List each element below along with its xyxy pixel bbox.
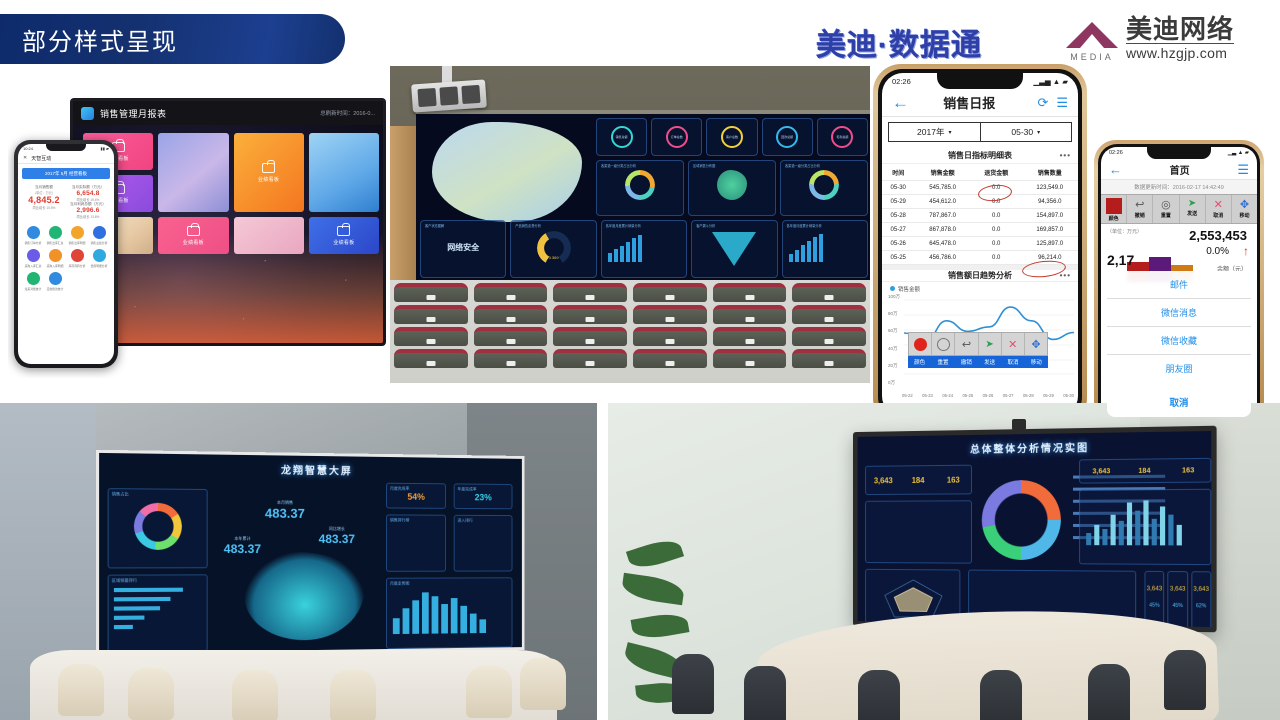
chair xyxy=(232,670,278,720)
kpi-card: 当月实际额（万元） 6,654.8 同比增长 19.4% xyxy=(67,185,109,202)
kpi-value: 3,643 xyxy=(866,476,901,485)
x-tick: 05-22 xyxy=(902,393,913,398)
seat xyxy=(713,327,787,346)
report-icon xyxy=(93,249,106,262)
cell-date: 05-28 xyxy=(882,209,914,223)
send-icon: ➤ xyxy=(1188,198,1196,209)
share-option-email[interactable]: 邮件 xyxy=(1107,271,1251,299)
shortcut-item[interactable]: 采购入库明细 xyxy=(45,249,65,268)
seat-row xyxy=(390,305,870,324)
phone-frame: 02:26 ▁▃ ▲ ▰ ← 首页 ☰ 数据更新时间：2016-02-17 14… xyxy=(1094,140,1264,430)
gauge-value: 54% xyxy=(387,492,445,502)
seat xyxy=(633,327,707,346)
gauge-value: 45% xyxy=(1145,602,1163,608)
metric-value: 483.37 xyxy=(265,506,305,521)
undo-icon: ↩ xyxy=(1135,198,1144,211)
cell-sales: 787,867.0 xyxy=(914,209,970,223)
toolbar-label-move: 移动 xyxy=(1239,212,1249,219)
section-title-banner: 部分样式呈现 xyxy=(0,14,345,64)
card-value: 3,643 xyxy=(1169,586,1187,592)
toolbar-label-send: 发送 xyxy=(1187,210,1197,217)
donut-chart xyxy=(809,170,839,200)
share-action-sheet: 邮件 微信消息 微信收藏 朋友圈 取消 xyxy=(1107,271,1251,417)
shortcut-item[interactable]: 应收账款统计 xyxy=(45,272,65,291)
seat xyxy=(474,349,548,368)
kpi-value: 4,845.2 xyxy=(23,195,65,205)
gauge-card: 月度完成率 54% xyxy=(386,483,446,509)
card-value: 3,643 xyxy=(1145,586,1163,592)
card-value: 3,643 xyxy=(1192,587,1210,593)
widget-title: 各年度月度累计销量分析 xyxy=(606,223,686,228)
tile-image-building[interactable] xyxy=(309,133,379,212)
chair xyxy=(744,666,786,720)
shortcut-item[interactable]: 采购入库汇总 xyxy=(23,249,43,268)
tile-label: 业绩看板 xyxy=(183,239,204,246)
reset-icon[interactable] xyxy=(932,333,955,355)
logo-media-text: MEDIA xyxy=(1064,52,1120,62)
briefcase-icon xyxy=(262,163,275,173)
seat xyxy=(633,349,707,368)
toolbar-label-row: 颜色 重置 撤销 发送 取消 移动 xyxy=(908,356,1048,368)
report-icon xyxy=(71,249,84,262)
chair xyxy=(980,670,1022,720)
column-header[interactable]: 时间 xyxy=(882,164,914,181)
chair xyxy=(330,670,376,720)
tile-dashboard[interactable]: 业绩看板 xyxy=(158,217,228,254)
bar-chart xyxy=(789,232,867,262)
send-icon[interactable]: ➤ xyxy=(979,333,1002,355)
metric-callout: 本年累计 483.37 xyxy=(222,536,263,556)
refresh-icon[interactable]: ⟳ xyxy=(1037,95,1048,111)
chair xyxy=(128,668,174,720)
widget-title: 各渠道一级分类占比分析 xyxy=(785,163,867,168)
cancel-icon[interactable]: ✕ xyxy=(1002,333,1025,355)
tile-label: 业绩看板 xyxy=(258,176,279,183)
undo-button[interactable]: ↩ 撤销 xyxy=(1127,195,1153,223)
table-card-title: 销售日指标明细表 xyxy=(948,150,1012,161)
funnel-chart xyxy=(712,232,756,266)
gauge-card: 年度完成率 23% xyxy=(454,483,513,509)
seat xyxy=(474,327,548,346)
last-updated-label: 数据更新时间：2016-02-17 14:42:49 xyxy=(1101,180,1257,194)
tablet-screen: 销售管理月报表 总刷新时间：2016-0... 业绩看板 业绩看板 业绩看板 xyxy=(73,101,383,343)
ring-label: 回款总额 xyxy=(778,128,796,146)
table-row: 05-25456,786.00.096,214.0 xyxy=(882,251,1078,265)
filter-row: 2017年 ▾ 05-30 ▾ xyxy=(888,122,1072,142)
kpi-ring-card: 客户总数 xyxy=(706,118,757,156)
share-options-group: 邮件 微信消息 微信收藏 朋友圈 xyxy=(1107,271,1251,382)
status-time: 02:26 xyxy=(892,77,911,86)
seat xyxy=(474,305,548,324)
seat xyxy=(474,283,548,302)
cell-qty: 154,897.0 xyxy=(1022,209,1078,223)
kpi-value: 3,643 xyxy=(1080,468,1123,476)
chair xyxy=(520,658,566,710)
report-icon xyxy=(27,226,40,239)
app-logo-icon xyxy=(81,107,94,120)
reset-icon: ◎ xyxy=(1161,198,1171,211)
status-time: 10:24 xyxy=(23,146,33,151)
cell-sales: 456,786.0 xyxy=(914,251,970,265)
shortcut-label: 库存周转分析 xyxy=(69,264,86,268)
auditorium-seating xyxy=(390,280,870,383)
color-swatch-button[interactable]: 颜色 xyxy=(1101,195,1127,223)
report-icon xyxy=(71,226,84,239)
cell-sales: 454,612.0 xyxy=(914,195,970,209)
ranking-widget: 区域销量排行 xyxy=(108,574,208,653)
kpi-ring-card: 订单总数 xyxy=(651,118,702,156)
tablet-app-header: 销售管理月报表 总刷新时间：2016-0... xyxy=(73,101,383,125)
seat xyxy=(553,349,627,368)
logo-company-name: 美迪网络 xyxy=(1126,16,1234,43)
toolbar-label-send[interactable]: 发送 xyxy=(978,356,1001,368)
metric-callout: 本月销售 483.37 xyxy=(265,500,305,521)
chair xyxy=(466,666,512,718)
kpi-unit: （单位：万元） xyxy=(1107,228,1142,235)
toolbar-label-reset: 重置 xyxy=(1161,212,1171,219)
seat xyxy=(713,349,787,368)
seat-row xyxy=(390,349,870,368)
donut-chart xyxy=(134,503,182,550)
cell-qty: 169,857.0 xyxy=(1022,223,1078,237)
seat xyxy=(792,349,866,368)
status-icons: ▮▮ ▰ xyxy=(100,146,109,151)
donut-chart xyxy=(625,170,655,200)
seat-row xyxy=(390,327,870,346)
china-map-visual xyxy=(432,122,582,222)
x-tick: 05-26 xyxy=(983,393,994,398)
page-title: 部分样式呈现 xyxy=(22,22,178,57)
funnel-widget: 客户漏斗分析 xyxy=(691,220,777,278)
logo-mountain-icon: MEDIA xyxy=(1064,16,1120,62)
shortcut-item[interactable]: 费用明细分析 xyxy=(89,249,109,268)
shortcut-label: 往来对账统计 xyxy=(25,287,42,291)
toolbar-label-undo[interactable]: 撤销 xyxy=(955,356,978,368)
donut-widget: 各渠道一级分类占比分析 xyxy=(596,160,684,216)
y-tick: 40万 xyxy=(888,346,900,352)
cancel-button[interactable]: ✕ 取消 xyxy=(1206,195,1232,223)
back-icon[interactable]: ← xyxy=(892,94,909,111)
seat xyxy=(713,305,787,324)
projector-icon xyxy=(411,79,487,112)
seat xyxy=(792,305,866,324)
hall-kpi-row: 销售总额 订单总数 客户总数 回款总额 毛利总额 xyxy=(596,118,868,156)
nav-title: 销售日报 xyxy=(909,93,1029,112)
reset-button[interactable]: ◎ 重置 xyxy=(1153,195,1179,223)
toolbar-icon-row: ↩ ➤ ✕ ✥ xyxy=(908,332,1048,356)
cell-date: 05-30 xyxy=(882,181,914,195)
gauge-value: 62% xyxy=(1192,603,1210,609)
color-swatch-button[interactable] xyxy=(909,333,932,355)
seat xyxy=(792,283,866,302)
seat-row xyxy=(390,283,870,302)
more-icon[interactable]: ••• xyxy=(1060,271,1071,280)
seat xyxy=(792,327,866,346)
cell-return: 0.0 xyxy=(971,195,1022,209)
seat xyxy=(553,305,627,324)
nav-bar: ← 首页 ☰ xyxy=(1101,159,1257,180)
kpi-column: 当月实际额（万元） 6,654.8 同比增长 19.4% 当月利润总额（万元） … xyxy=(67,185,109,219)
kpi-ring-card: 毛利总额 xyxy=(817,118,868,156)
share-cancel-button[interactable]: 取消 xyxy=(1107,387,1251,417)
legend-marker xyxy=(890,286,895,291)
kpi-value: 2,996.6 xyxy=(67,207,109,214)
status-indicators: ▁▃ ▲ ▰ xyxy=(1228,150,1249,156)
shortcut-grid: 销售订单分析 销售出库汇总 销售出库明细 销售业绩分析 采购入库汇总 采购入库明… xyxy=(18,222,114,295)
phone-frame: 02:26 ▁▃▅ ▲ ▰ ← 销售日报 ⟳ ☰ 2017年 ▾ 05-30 xyxy=(873,64,1087,426)
column-header[interactable]: 退货金额 xyxy=(971,164,1022,181)
send-button[interactable]: ➤ 发送 xyxy=(1180,195,1206,223)
report-icon xyxy=(49,249,62,262)
annotation-toolbar: 颜色 ↩ 撤销 ◎ 重置 ➤ 发送 ✕ xyxy=(1101,194,1257,224)
seat xyxy=(394,327,468,346)
shortcut-item[interactable]: 销售出库汇总 xyxy=(45,226,65,245)
x-tick: 05-29 xyxy=(1043,393,1054,398)
year-select[interactable]: 2017年 ▾ xyxy=(889,123,981,141)
tablet-mockup-panel: 销售管理月报表 总刷新时间：2016-0... 业绩看板 业绩看板 业绩看板 xyxy=(8,78,386,378)
donut-widget: 销售占比 xyxy=(108,488,208,568)
kpi-value: 163 xyxy=(1166,467,1210,475)
report-icon xyxy=(27,249,40,262)
chair xyxy=(858,670,900,720)
shortcut-item[interactable]: 销售订单分析 xyxy=(23,226,43,245)
column-header[interactable]: 销售数量 xyxy=(1022,164,1078,181)
brand-title: 美迪·数据通 xyxy=(816,20,982,64)
cell-qty: 125,897.0 xyxy=(1022,237,1078,251)
chair xyxy=(58,664,104,716)
page-header: 部分样式呈现 美迪·数据通 MEDIA 美迪网络 www.hzgjp.com xyxy=(0,0,1280,70)
bar-widget: 各年度月度累计销量分析 xyxy=(601,220,687,278)
projection-screen: 龙翔智慧大屏 销售占比 区域销量排行 本月销售 483.37 本年累计 483.… xyxy=(96,450,525,656)
cell-date: 05-25 xyxy=(882,251,914,265)
chart-legend: 销售金额 xyxy=(882,282,1078,293)
menu-icon[interactable]: ☰ xyxy=(1056,95,1068,111)
status-bar: 02:26 ▁▃ ▲ ▰ xyxy=(1101,147,1257,159)
gauge-value: 45% xyxy=(1169,603,1187,609)
shortcut-label: 采购入库明细 xyxy=(47,264,64,268)
cell-date: 05-27 xyxy=(882,223,914,237)
toolbar-label-cancel: 取消 xyxy=(1213,212,1223,219)
tile-dashboard[interactable]: 业绩看板 xyxy=(234,133,304,212)
kpi-card: 当月销售额 （单位：万元） 4,845.2 同比增长 10.5% xyxy=(23,185,65,219)
kpi-value: 184 xyxy=(1123,467,1166,475)
bar-chart xyxy=(387,586,512,634)
kpi-group: 3,643 184 163 xyxy=(866,466,971,494)
sales-trend-chart: 销售金额 100万 80万 60万 40万 20万 0万 xyxy=(882,282,1078,400)
toolbar-label-move[interactable]: 移动 xyxy=(1025,356,1048,368)
kpi-sub: 同比增长 10.5% xyxy=(23,205,65,210)
metric-value: 483.37 xyxy=(222,542,263,556)
kpi-total-value: 2,553,453 xyxy=(1189,228,1247,243)
x-tick: 05-23 xyxy=(922,393,933,398)
status-bar: 02:26 ▁▃▅ ▲ ▰ xyxy=(882,73,1078,89)
column-header[interactable]: 销售金额 xyxy=(914,164,970,181)
shortcut-label: 销售订单分析 xyxy=(25,241,42,245)
chart-card-header: 销售额日趋势分析 ••• xyxy=(882,265,1078,282)
kpi-sub: 同比增长 13.8% xyxy=(67,214,109,219)
gauge-label: 月度完成率 xyxy=(387,484,445,492)
kpi-ring-card: 销售总额 xyxy=(596,118,647,156)
briefcase-icon xyxy=(337,226,350,236)
more-icon[interactable]: ••• xyxy=(1060,151,1071,160)
lecture-hall-photo: 销售总额 订单总数 客户总数 回款总额 毛利总额 各渠道一级分类占比分析 区域销… xyxy=(390,66,870,383)
phone-mockup-dashboard: 10:24 ▮▮ ▰ ✕ 天智互动 2017年 5月 经营看板 当月销售额 （单… xyxy=(14,140,118,368)
ring-label: 客户总数 xyxy=(723,128,741,146)
tile-dashboard[interactable]: 业绩看板 xyxy=(309,217,379,254)
cell-qty: 123,549.0 xyxy=(1022,181,1078,195)
widget-title: 销售排行榜 xyxy=(387,515,445,523)
tablet-app-title: 销售管理月报表 xyxy=(100,107,167,120)
widget-title: 各渠道一级分类占比分析 xyxy=(601,163,683,168)
x-axis-ticks: 05-22 05-23 05-24 05-25 05-26 05-27 05-2… xyxy=(902,393,1074,398)
status-time: 02:26 xyxy=(1109,150,1123,156)
overlay-widget: 客户状态图解 网络安全 xyxy=(420,220,506,278)
table-row: 05-26645,478.00.0125,897.0 xyxy=(882,237,1078,251)
cell-return: 0.0 xyxy=(971,251,1022,265)
horizontal-bars xyxy=(109,583,207,633)
move-icon[interactable]: ✥ xyxy=(1025,333,1047,355)
back-icon[interactable]: ← xyxy=(1109,163,1122,176)
shortcut-item[interactable]: 库存周转分析 xyxy=(67,249,87,268)
tv-display: 总体整体分析情况实图 3,643 184 163 3,643 184 163 xyxy=(853,426,1217,633)
x-tick: 05-27 xyxy=(1003,393,1014,398)
phone-screen: 02:26 ▁▃▅ ▲ ▰ ← 销售日报 ⟳ ☰ 2017年 ▾ 05-30 xyxy=(882,73,1078,417)
cell-return: 0.0 xyxy=(971,181,1022,195)
trend-widget: 月度走势图 xyxy=(386,577,512,649)
kpi-card: 当月利润总额（万元） 2,996.6 同比增长 13.8% xyxy=(67,202,109,219)
share-option-wechat-message[interactable]: 微信消息 xyxy=(1107,299,1251,327)
kpi-left-value: 2,17 xyxy=(1107,252,1134,268)
tile-label: 业绩看板 xyxy=(333,239,354,246)
bar-chart xyxy=(608,232,686,262)
widget-title: 客户状态图解 xyxy=(425,223,505,228)
kpi-value: 6,654.8 xyxy=(67,190,109,197)
toolbar-label-cancel[interactable]: 取消 xyxy=(1001,356,1024,368)
bar-chart xyxy=(1080,490,1210,546)
toolbar-label-undo: 撤销 xyxy=(1135,212,1145,219)
ranking-list: 销售排行榜 xyxy=(386,514,446,571)
kpi-value: 184 xyxy=(901,475,936,484)
date-select[interactable]: 05-30 ▾ xyxy=(981,123,1072,141)
report-icon xyxy=(93,226,106,239)
report-icon xyxy=(27,272,40,285)
overlay-text: 网络安全 xyxy=(421,242,505,253)
cell-qty: 96,214.0 xyxy=(1022,251,1078,265)
toolbar-label-reset[interactable]: 重置 xyxy=(931,356,954,368)
phone-screen: 10:24 ▮▮ ▰ ✕ 天智互动 2017年 5月 经营看板 当月销售额 （单… xyxy=(18,144,114,364)
shortcut-label: 销售业绩分析 xyxy=(91,241,108,245)
toolbar-label-color[interactable]: 颜色 xyxy=(908,356,931,368)
seat xyxy=(394,349,468,368)
menu-icon[interactable]: ☰ xyxy=(1237,163,1249,176)
phone-nav-bar: ✕ 天智互动 xyxy=(18,153,114,164)
x-tick: 05-24 xyxy=(942,393,953,398)
briefcase-icon xyxy=(187,226,200,236)
cell-date: 05-26 xyxy=(882,237,914,251)
year-select-value: 2017年 xyxy=(917,126,944,138)
kpi-value: 163 xyxy=(936,475,971,484)
move-button[interactable]: ✥ 移动 xyxy=(1232,195,1257,223)
phone-screen: 02:26 ▁▃ ▲ ▰ ← 首页 ☰ 数据更新时间：2016-02-17 14… xyxy=(1101,147,1257,423)
y-tick: 60万 xyxy=(888,328,900,334)
camera-icon xyxy=(1012,419,1026,430)
share-option-wechat-favorite[interactable]: 微信收藏 xyxy=(1107,327,1251,355)
shortcut-item[interactable]: 往来对账统计 xyxy=(23,272,43,291)
meeting-room-photo: 总体整体分析情况实图 3,643 184 163 3,643 184 163 xyxy=(608,403,1280,720)
kpi-row-right: 3,643 184 163 xyxy=(1079,458,1211,484)
china-map-visual xyxy=(245,552,365,641)
date-select-value: 05-30 xyxy=(1011,127,1033,137)
share-option-moments[interactable]: 朋友圈 xyxy=(1107,355,1251,382)
widget-title: 销售占比 xyxy=(109,489,207,498)
sales-detail-table: 时间 销售金额 退货金额 销售数量 05-30545,785.00.0123,5… xyxy=(882,164,1078,265)
shortcut-item[interactable]: 销售出库明细 xyxy=(67,226,87,245)
close-icon[interactable]: ✕ xyxy=(23,155,27,161)
seat xyxy=(553,283,627,302)
nav-bar: ← 销售日报 ⟳ ☰ xyxy=(882,89,1078,117)
data-matrix-widget xyxy=(865,500,972,563)
widget-title: 客户漏斗分析 xyxy=(696,223,776,228)
phone-notch xyxy=(46,144,86,151)
phone-sales-report-mockup: 02:26 ▁▃▅ ▲ ▰ ← 销售日报 ⟳ ☰ 2017年 ▾ 05-30 xyxy=(873,64,1087,426)
widget-title: 产品销售走势分析 xyxy=(515,223,595,228)
y-axis-ticks: 100万 80万 60万 40万 20万 0万 xyxy=(888,294,900,386)
gauge-chart xyxy=(537,231,571,265)
cancel-icon: ✕ xyxy=(1214,198,1223,211)
x-tick: 05-30 xyxy=(1063,393,1074,398)
shortcut-label: 采购入库汇总 xyxy=(25,264,42,268)
table-row: 05-30545,785.00.0123,549.0 xyxy=(882,181,1078,195)
shortcut-label: 费用明细分析 xyxy=(91,264,108,268)
ring-label: 销售总额 xyxy=(613,128,631,146)
cell-return: 0.0 xyxy=(971,223,1022,237)
annotation-toolbar: ↩ ➤ ✕ ✥ 颜色 重置 撤销 发送 取消 移动 xyxy=(908,332,1048,368)
ring-label: 订单总数 xyxy=(668,128,686,146)
tablet-app-meta: 总刷新时间：2016-0... xyxy=(320,109,375,117)
ranking-list: 进入排行 xyxy=(454,515,513,572)
gauge-card: 3,643 45% xyxy=(1168,571,1188,631)
cell-sales: 645,478.0 xyxy=(914,237,970,251)
shortcut-item[interactable]: 销售业绩分析 xyxy=(89,226,109,245)
metric-value: 483.37 xyxy=(317,532,357,546)
ring-label: 毛利总额 xyxy=(833,128,851,146)
kpi-group: 当月销售额 （单位：万元） 4,845.2 同比增长 10.5% 当月实际额（万… xyxy=(18,183,114,222)
phone-nav-title: 天智互动 xyxy=(31,155,51,162)
table-header-row: 时间 销售金额 退货金额 销售数量 xyxy=(882,164,1078,181)
status-indicators: ▁▃▅ ▲ ▰ xyxy=(1033,77,1068,86)
hall-big-screen: 销售总额 订单总数 客户总数 回款总额 毛利总额 各渠道一级分类占比分析 区域销… xyxy=(416,110,870,280)
y-tick: 100万 xyxy=(888,294,900,300)
combo-chart-widget xyxy=(1079,489,1211,565)
tile-image-laptop[interactable] xyxy=(158,133,228,212)
toolbar-label-color: 颜色 xyxy=(1109,215,1119,222)
table-row: 05-28787,867.00.0154,897.0 xyxy=(882,209,1078,223)
nav-title: 首页 xyxy=(1122,162,1237,177)
seat xyxy=(713,283,787,302)
bar-widget: 各年度月度累计销量分析 xyxy=(782,220,868,278)
gauge-value: 23% xyxy=(455,492,512,502)
tile-image-workspace[interactable] xyxy=(234,217,304,254)
seat xyxy=(633,305,707,324)
chevron-down-icon: ▾ xyxy=(948,129,951,136)
period-banner: 2017年 5月 经营看板 xyxy=(22,168,110,179)
undo-icon[interactable]: ↩ xyxy=(955,333,978,355)
gauge-card: 3,643 62% xyxy=(1191,571,1211,631)
chair xyxy=(1088,664,1130,720)
cell-sales: 867,878.0 xyxy=(914,223,970,237)
trend-up-icon: ↑ xyxy=(1243,244,1249,258)
seat xyxy=(394,283,468,302)
